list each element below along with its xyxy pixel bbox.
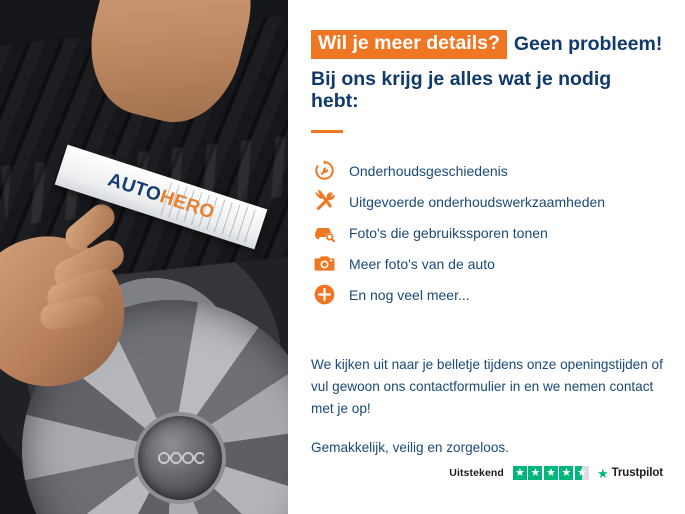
headline-badge: Wil je meer details? [311, 30, 507, 59]
list-item: Uitgevoerde onderhoudswerkzaamheden [311, 186, 663, 217]
tools-cross-icon [311, 189, 337, 215]
paragraph-tagline: Gemakkelijk, veilig en zorgeloos. [311, 437, 663, 459]
headline-block: Wil je meer details? Geen probleem! Bij … [311, 30, 663, 112]
trustpilot-logo[interactable]: ★ Trustpilot [597, 467, 663, 480]
camera-icon [311, 251, 337, 277]
star-1: ★ [513, 466, 527, 480]
paragraph-contact: We kijken uit naar je belletje tijdens o… [311, 354, 663, 420]
list-item: En nog veel meer... [311, 279, 663, 310]
headline-second-line: Bij ons krijg je alles wat je nodig hebt… [311, 68, 663, 113]
accent-divider [311, 130, 343, 133]
trustpilot-wordmark: Trustpilot [612, 467, 663, 479]
star-rating: ★ ★ ★ ★ ★ [513, 466, 589, 480]
wheel-center-cap [138, 416, 222, 500]
star-glyph: ★ [546, 468, 556, 479]
list-item-label: Foto's die gebruikssporen tonen [349, 226, 548, 240]
logo-text-auto: AUTO [105, 169, 164, 206]
star-2: ★ [528, 466, 542, 480]
rating-word: Uitstekend [449, 467, 504, 479]
promo-banner: AUTOHERO Wil je meer details? Geen probl… [0, 0, 685, 514]
list-item: Onderhoudsgeschiedenis [311, 155, 663, 186]
plus-circle-icon [311, 282, 337, 308]
headline-first-line: Wil je meer details? Geen probleem! [311, 30, 663, 59]
tyre-gauge-photo: AUTOHERO [0, 0, 288, 514]
list-item-label: Meer foto's van de auto [349, 257, 495, 271]
list-item: Foto's die gebruikssporen tonen [311, 217, 663, 248]
star-glyph: ★ [515, 468, 525, 479]
feature-list: Onderhoudsgeschiedenis Uitgevoerde onder… [311, 155, 663, 310]
headline-rest: Geen probleem! [514, 35, 662, 55]
star-glyph: ★ [577, 468, 587, 479]
list-item-label: Uitgevoerde onderhoudswerkzaamheden [349, 195, 605, 209]
list-item-label: En nog veel meer... [349, 288, 470, 302]
car-inspection-icon [311, 220, 337, 246]
list-item: Meer foto's van de auto [311, 248, 663, 279]
star-glyph: ★ [531, 468, 541, 479]
list-item-label: Onderhoudsgeschiedenis [349, 164, 508, 178]
star-5-half: ★ [575, 466, 589, 480]
star-3: ★ [544, 466, 558, 480]
star-4: ★ [559, 466, 573, 480]
maintenance-history-icon [311, 158, 337, 184]
trustpilot-star-icon: ★ [597, 467, 609, 480]
body-copy: We kijken uit naar je belletje tijdens o… [311, 354, 663, 459]
star-glyph: ★ [562, 468, 572, 479]
content-panel: Wil je meer details? Geen probleem! Bij … [288, 0, 685, 514]
trustpilot-rating[interactable]: Uitstekend ★ ★ ★ ★ ★ ★ Trustpilot [449, 466, 663, 480]
